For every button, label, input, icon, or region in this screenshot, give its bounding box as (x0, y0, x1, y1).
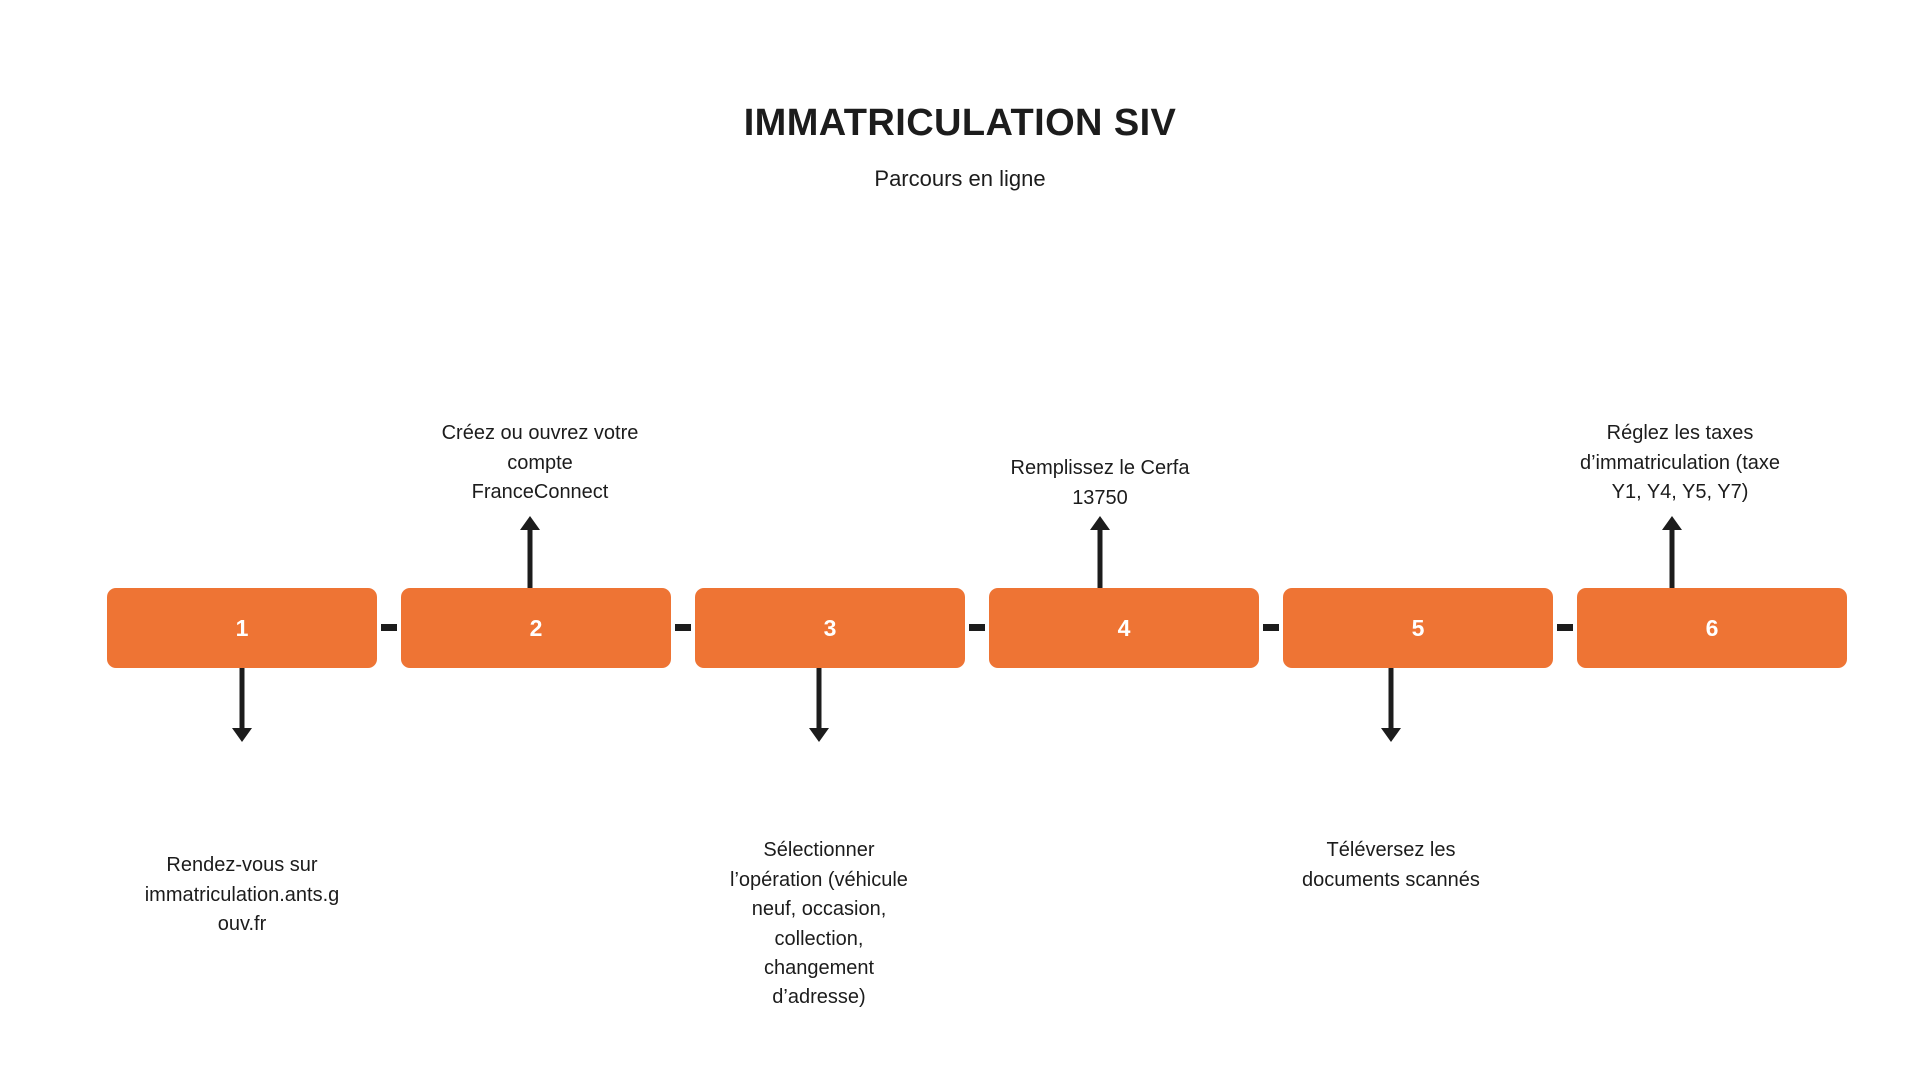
step-number-3: 3 (824, 617, 837, 640)
step-label-1-text: Rendez-vous sur immatriculation.ants.g o… (145, 854, 340, 935)
step-number-4: 4 (1118, 617, 1131, 640)
process-timeline: 1 2 3 4 5 6 (107, 588, 1823, 668)
connector-1-2 (381, 624, 397, 631)
step-label-4: Remplissez le Cerfa 13750 (960, 425, 1240, 513)
step-box-6[interactable]: 6 (1577, 588, 1847, 668)
connector-3-4 (969, 624, 985, 631)
page-subtitle: Parcours en ligne (0, 145, 1920, 191)
step-number-6: 6 (1706, 617, 1719, 640)
step-number-2: 2 (530, 617, 543, 640)
connector-2-3 (675, 624, 691, 631)
diagram-header: IMMATRICULATION SIV Parcours en ligne (0, 0, 1920, 191)
arrow-up-step-2 (520, 516, 540, 590)
step-label-4-text: Remplissez le Cerfa 13750 (1011, 457, 1190, 508)
step-number-5: 5 (1412, 617, 1425, 640)
page-title: IMMATRICULATION SIV (0, 0, 1920, 145)
step-label-1: Rendez-vous sur immatriculation.ants.g o… (102, 822, 382, 940)
step-box-4[interactable]: 4 (989, 588, 1259, 668)
connector-5-6 (1557, 624, 1573, 631)
arrow-down-step-5 (1381, 668, 1401, 742)
step-label-5-text: Téléversez les documents scannés (1302, 839, 1480, 890)
connector-4-5 (1263, 624, 1279, 631)
arrow-down-step-1 (232, 668, 252, 742)
step-number-1: 1 (236, 617, 249, 640)
step-box-2[interactable]: 2 (401, 588, 671, 668)
step-label-6: Réglez les taxes d’immatriculation (taxe… (1540, 390, 1820, 508)
step-label-2-text: Créez ou ouvrez votre compte FranceConne… (442, 422, 639, 503)
step-label-5: Téléversez les documents scannés (1251, 807, 1531, 895)
step-box-5[interactable]: 5 (1283, 588, 1553, 668)
step-label-3-text: Sélectionner l’opération (véhicule neuf,… (730, 839, 908, 1008)
step-label-2: Créez ou ouvrez votre compte FranceConne… (400, 390, 680, 508)
arrow-up-step-4 (1090, 516, 1110, 590)
arrow-down-step-3 (809, 668, 829, 742)
step-box-1[interactable]: 1 (107, 588, 377, 668)
step-label-3: Sélectionner l’opération (véhicule neuf,… (679, 807, 959, 1013)
step-box-3[interactable]: 3 (695, 588, 965, 668)
step-label-6-text: Réglez les taxes d’immatriculation (taxe… (1580, 422, 1780, 503)
arrow-up-step-6 (1662, 516, 1682, 590)
